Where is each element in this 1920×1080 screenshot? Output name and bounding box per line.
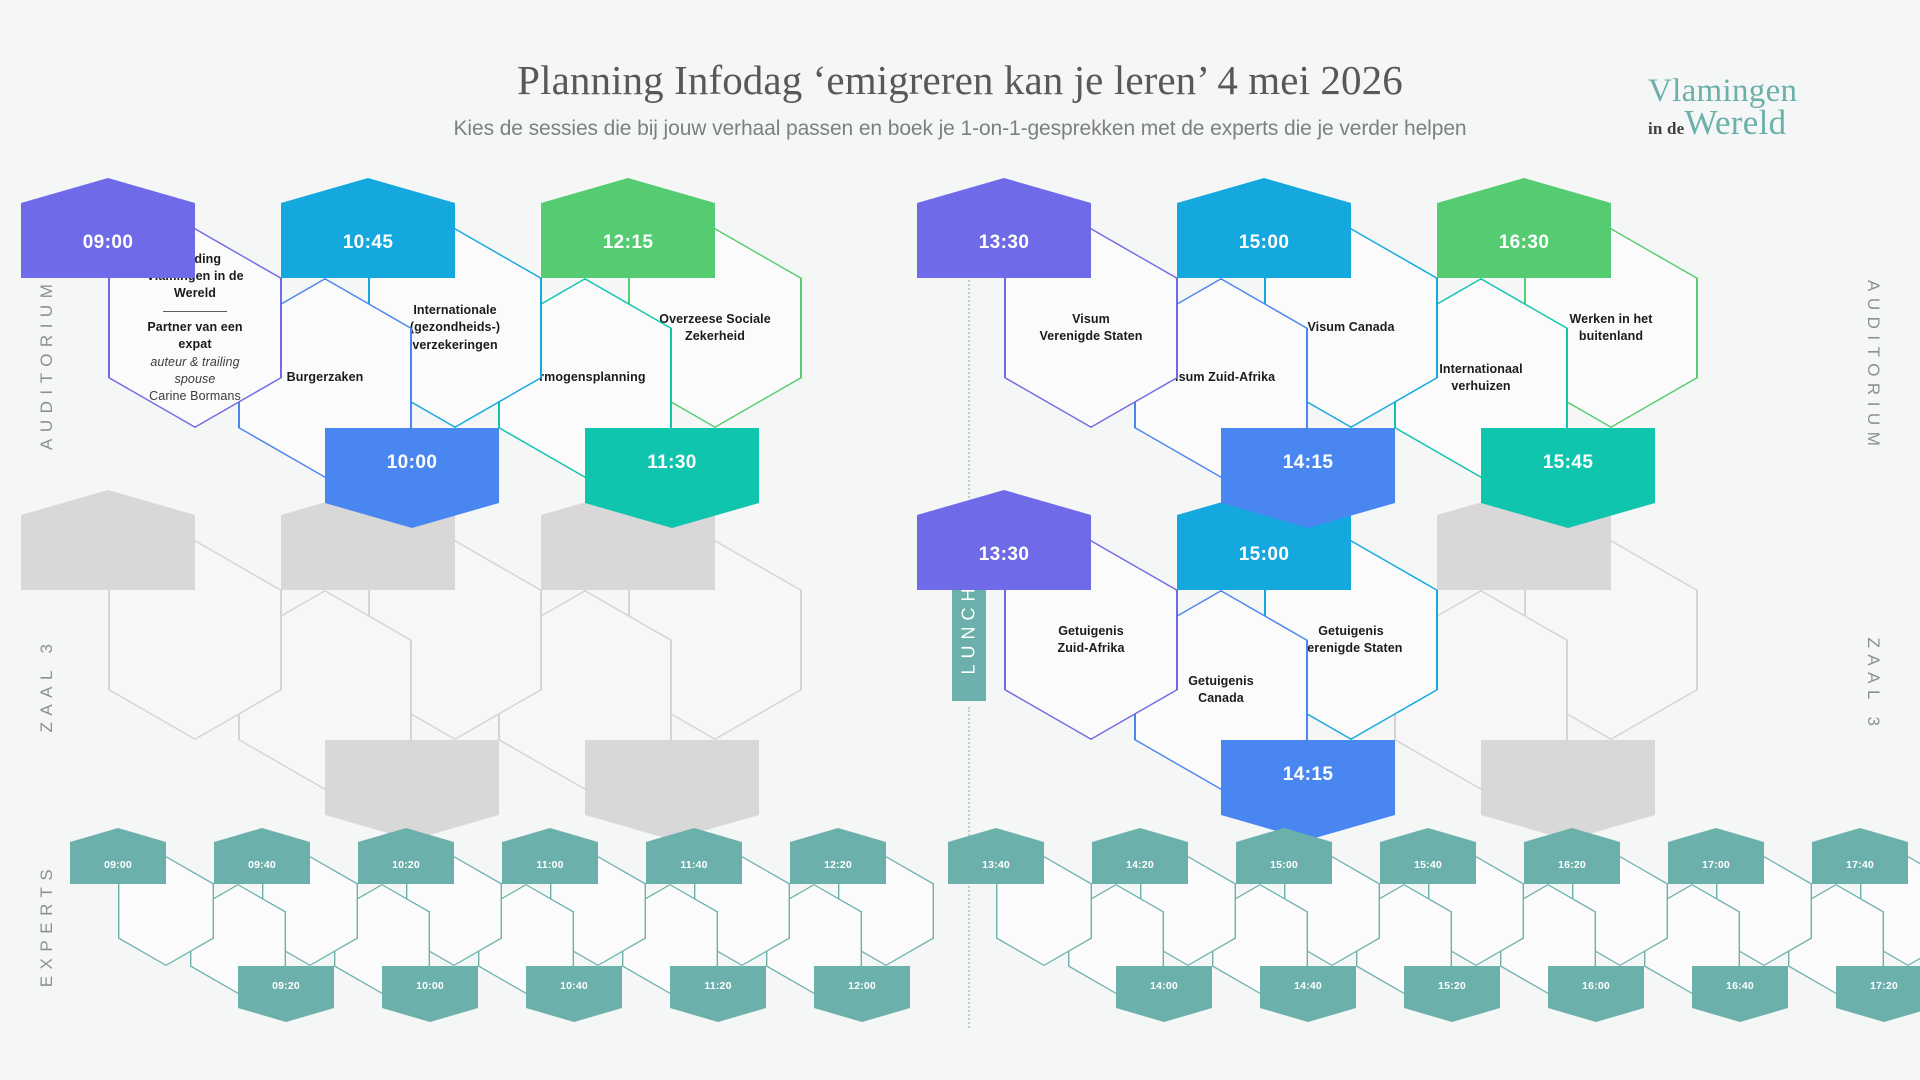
session-title-line: buitenland — [1569, 328, 1652, 345]
session-title-line: Werken in het — [1569, 311, 1652, 328]
expert-slot-time-chip[interactable]: 10:40 — [526, 966, 622, 1022]
expert-slot-time-text: 12:00 — [848, 980, 876, 992]
logo-inde: in de — [1648, 119, 1684, 138]
session-title-line: Zekerheid — [659, 328, 771, 345]
session-hex-empty[interactable] — [108, 540, 282, 740]
schedule-infographic: Planning Infodag ‘emigreren kan je leren… — [0, 0, 1920, 1080]
expert-slot-time-text: 16:40 — [1726, 980, 1754, 992]
session-time-chip[interactable] — [325, 740, 499, 840]
session-time-text: 11:30 — [647, 452, 697, 474]
expert-slot-time-text: 11:00 — [536, 859, 563, 871]
session-time-chip[interactable]: 13:30 — [917, 178, 1091, 278]
session-time-chip[interactable] — [21, 490, 195, 590]
session-time-text: 09:00 — [83, 232, 134, 254]
expert-slot-time-text: 17:20 — [1870, 980, 1898, 992]
expert-slot-time-text: 13:40 — [982, 859, 1010, 871]
expert-slot-time-chip[interactable]: 16:00 — [1548, 966, 1644, 1022]
logo-line-wereld: in deWereld — [1648, 107, 1868, 139]
session-time-text: 14:15 — [1283, 452, 1334, 474]
session-time-chip[interactable]: 12:15 — [541, 178, 715, 278]
expert-slot-time-chip[interactable]: 09:40 — [214, 828, 310, 884]
expert-slot-time-text: 10:00 — [416, 980, 444, 992]
expert-slot-time-text: 14:00 — [1150, 980, 1178, 992]
session-title-line: Burgerzaken — [287, 369, 364, 386]
session-title-line: Overzeese Sociale — [659, 311, 771, 328]
session-time-chip[interactable] — [585, 740, 759, 840]
session-time-text: 13:30 — [979, 232, 1030, 254]
expert-slot-time-text: 09:40 — [248, 859, 276, 871]
session-time-text: 12:15 — [603, 232, 654, 254]
rail-label-experts-left: EXPERTS — [37, 840, 57, 1010]
expert-slot-time-chip[interactable]: 12:20 — [790, 828, 886, 884]
expert-slot-hex[interactable]: 13:40 — [996, 856, 1092, 966]
session-title-line: Wereld — [130, 285, 260, 302]
expert-slot-time-text: 16:20 — [1558, 859, 1586, 871]
session-time-text: 15:00 — [1239, 544, 1290, 566]
session-hex[interactable]: 13:30VisumVerenigde Staten — [1004, 228, 1178, 428]
lunch-divider: LUNCH — [952, 228, 986, 1028]
session-hex[interactable]: 09:00inleidingVlamingen in deWereldPartn… — [108, 228, 282, 428]
expert-slot-time-chip[interactable]: 11:00 — [502, 828, 598, 884]
expert-slot-time-text: 10:20 — [392, 859, 420, 871]
session-title-line: auteur & trailing spouse — [130, 354, 260, 389]
session-time-chip[interactable]: 15:00 — [1177, 178, 1351, 278]
session-title-line: verhuizen — [1439, 378, 1522, 395]
session-title-line: Visum Zuid-Afrika — [1167, 369, 1275, 386]
session-title-line: Vermogensplanning — [524, 369, 645, 386]
session-title-line: (gezondheids-) — [410, 319, 500, 336]
session-title-line: Verenigde Staten — [1299, 640, 1402, 657]
logo-wereld: Wereld — [1684, 103, 1786, 142]
expert-slot-time-chip[interactable]: 17:40 — [1812, 828, 1908, 884]
session-title-line: verzekeringen — [410, 337, 500, 354]
expert-slot-time-text: 11:20 — [704, 980, 731, 992]
expert-slot-time-text: 10:40 — [560, 980, 588, 992]
rail-label-zaal3-left: ZAAL 3 — [37, 600, 57, 770]
session-title-line: Visum — [1039, 311, 1142, 328]
session-title-line: Canada — [1188, 690, 1254, 707]
expert-slot-time-chip[interactable]: 15:20 — [1404, 966, 1500, 1022]
session-title-line: Getuigenis — [1057, 623, 1124, 640]
expert-slot-time-chip[interactable]: 09:20 — [238, 966, 334, 1022]
session-time-chip[interactable]: 16:30 — [1437, 178, 1611, 278]
expert-slot-time-text: 14:40 — [1294, 980, 1322, 992]
session-time-text: 15:00 — [1239, 232, 1290, 254]
session-time-text: 15:45 — [1543, 452, 1594, 474]
expert-slot-time-chip[interactable]: 14:20 — [1092, 828, 1188, 884]
expert-slot-time-text: 16:00 — [1582, 980, 1610, 992]
session-title-line: Getuigenis — [1188, 673, 1254, 690]
session-title-line: Getuigenis — [1299, 623, 1402, 640]
session-time-chip[interactable]: 10:45 — [281, 178, 455, 278]
expert-slot-time-text: 17:40 — [1846, 859, 1874, 871]
expert-slot-time-text: 15:40 — [1414, 859, 1442, 871]
expert-slot-time-chip[interactable]: 16:40 — [1692, 966, 1788, 1022]
session-title-line: Internationaal — [1439, 361, 1522, 378]
expert-slot-time-chip[interactable]: 10:20 — [358, 828, 454, 884]
expert-slot-time-text: 15:00 — [1270, 859, 1298, 871]
session-time-chip[interactable]: 14:15 — [1221, 740, 1395, 840]
page-header: Planning Infodag ‘emigreren kan je leren… — [0, 58, 1920, 141]
expert-slot-time-chip[interactable]: 17:20 — [1836, 966, 1920, 1022]
session-title-line: Verenigde Staten — [1039, 328, 1142, 345]
expert-slot-time-chip[interactable]: 14:40 — [1260, 966, 1356, 1022]
expert-slot-hex[interactable]: 09:00 — [118, 856, 214, 966]
session-time-chip[interactable]: 09:00 — [21, 178, 195, 278]
expert-slot-time-text: 09:00 — [104, 859, 132, 871]
session-divider — [163, 311, 227, 313]
expert-slot-time-text: 17:00 — [1702, 859, 1730, 871]
session-time-text: 14:15 — [1283, 764, 1334, 786]
rail-label-zaal3-right: ZAAL 3 — [1863, 600, 1883, 770]
expert-slot-time-text: 09:20 — [272, 980, 300, 992]
expert-slot-time-text: 15:20 — [1438, 980, 1466, 992]
expert-slot-time-chip[interactable]: 16:20 — [1524, 828, 1620, 884]
page-subtitle: Kies de sessies die bij jouw verhaal pas… — [0, 117, 1920, 141]
session-time-text: 10:00 — [387, 452, 438, 474]
logo-line-vlamingen: Vlamingen — [1648, 76, 1868, 106]
session-title-line: Visum Canada — [1307, 319, 1394, 336]
expert-slot-time-chip[interactable]: 14:00 — [1116, 966, 1212, 1022]
session-time-text: 16:30 — [1499, 232, 1550, 254]
session-time-chip[interactable] — [1481, 740, 1655, 840]
page-title: Planning Infodag ‘emigreren kan je leren… — [0, 58, 1920, 104]
session-title-line: Zuid-Afrika — [1057, 640, 1124, 657]
expert-slot-time-text: 12:20 — [824, 859, 852, 871]
expert-slot-time-chip[interactable]: 15:40 — [1380, 828, 1476, 884]
expert-slot-time-chip[interactable]: 17:00 — [1668, 828, 1764, 884]
session-title-line: Partner van een expat — [130, 319, 260, 354]
session-title-line: Carine Bormans — [130, 388, 260, 405]
session-time-text: 10:45 — [343, 232, 394, 254]
session-hex[interactable]: 13:30GetuigenisZuid-Afrika — [1004, 540, 1178, 740]
session-time-chip[interactable]: 13:30 — [917, 490, 1091, 590]
expert-slot-time-chip[interactable]: 09:00 — [70, 828, 166, 884]
expert-slot-time-text: 14:20 — [1126, 859, 1154, 871]
rail-label-auditorium-right: AUDITORIUM — [1863, 280, 1883, 450]
session-title-line: Internationale — [410, 302, 500, 319]
session-time-text: 13:30 — [979, 544, 1030, 566]
expert-slot-time-text: 11:40 — [680, 859, 707, 871]
expert-slot-time-chip[interactable]: 11:20 — [670, 966, 766, 1022]
expert-slot-time-chip[interactable]: 10:00 — [382, 966, 478, 1022]
expert-slot-time-chip[interactable]: 12:00 — [814, 966, 910, 1022]
rail-label-auditorium-left: AUDITORIUM — [37, 280, 57, 450]
lunch-label: LUNCH — [959, 582, 980, 674]
logo-vlamingen-in-de-wereld: Vlamingen in deWereld — [1648, 76, 1868, 140]
